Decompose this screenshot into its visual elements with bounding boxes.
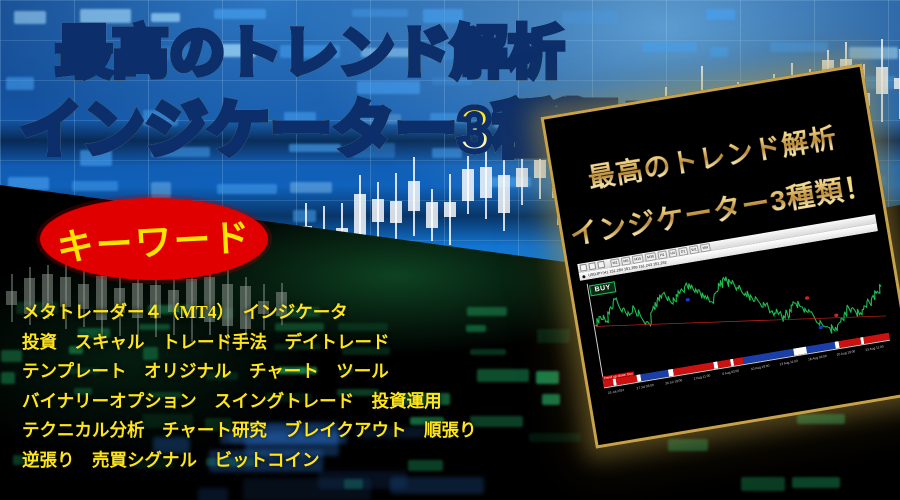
keyword-line: テンプレート オリジナル チャート ツール	[22, 357, 476, 387]
chevron-down-icon[interactable]	[597, 261, 605, 269]
date-label: 16 Aug 03:00	[808, 354, 827, 362]
date-label: 10 Aug 19:00	[750, 364, 769, 372]
keyword-line: メタトレーダー４（MT4） インジケータ	[22, 298, 476, 328]
signal-marker-buy	[834, 313, 839, 317]
headline-line-1: 最高のトレンド解析	[56, 8, 565, 89]
headline-line-1-text: 最高のトレンド解析	[56, 21, 565, 84]
quote-marker-icon	[582, 275, 585, 278]
date-label: 20 Aug 19:00	[836, 349, 855, 357]
signal-marker-sell	[685, 298, 690, 302]
promo-banner: 最高のトレンド解析 インジケーター3種類！ キーワード メタトレーダー４（MT4…	[0, 0, 900, 500]
panel-title-exclamation: ！	[841, 170, 875, 205]
signal-marker-buy	[805, 296, 810, 300]
mt4-preview-panel[interactable]: 最高のトレンド解析 インジケーター3種類！ M1M5M15M30H1H4D1W1…	[541, 63, 900, 448]
date-label: 23 Aug 11:00	[865, 344, 884, 352]
keyword-badge: キーワード	[40, 198, 268, 280]
date-label: 23 Jul 2024	[607, 388, 624, 395]
keyword-line: 逆張り 売買シグナル ビットコイン	[22, 446, 476, 476]
date-label: 6 Aug 03:00	[722, 369, 739, 376]
signal-marker-sell	[818, 325, 823, 329]
date-label: 30 Jul 19:00	[665, 378, 683, 385]
date-label: 27 Jul 03:00	[636, 383, 654, 390]
keyword-line: テクニカル分析 チャート研究 ブレイクアウト 順張り	[22, 416, 476, 446]
keyword-list: メタトレーダー４（MT4） インジケータ 投資 スキャル トレード手法 デイトレ…	[22, 298, 476, 475]
cursor-icon[interactable]	[579, 264, 587, 272]
keyword-badge-label: キーワード	[38, 192, 270, 286]
crosshair-icon[interactable]	[588, 262, 596, 270]
date-label: 2 Aug 11:00	[693, 374, 710, 381]
keyword-line: バイナリーオプション スイングトレード 投資運用	[22, 387, 476, 417]
keyword-line: 投資 スキャル トレード手法 デイトレード	[22, 328, 476, 358]
date-label: 13 Aug 11:00	[779, 359, 798, 367]
